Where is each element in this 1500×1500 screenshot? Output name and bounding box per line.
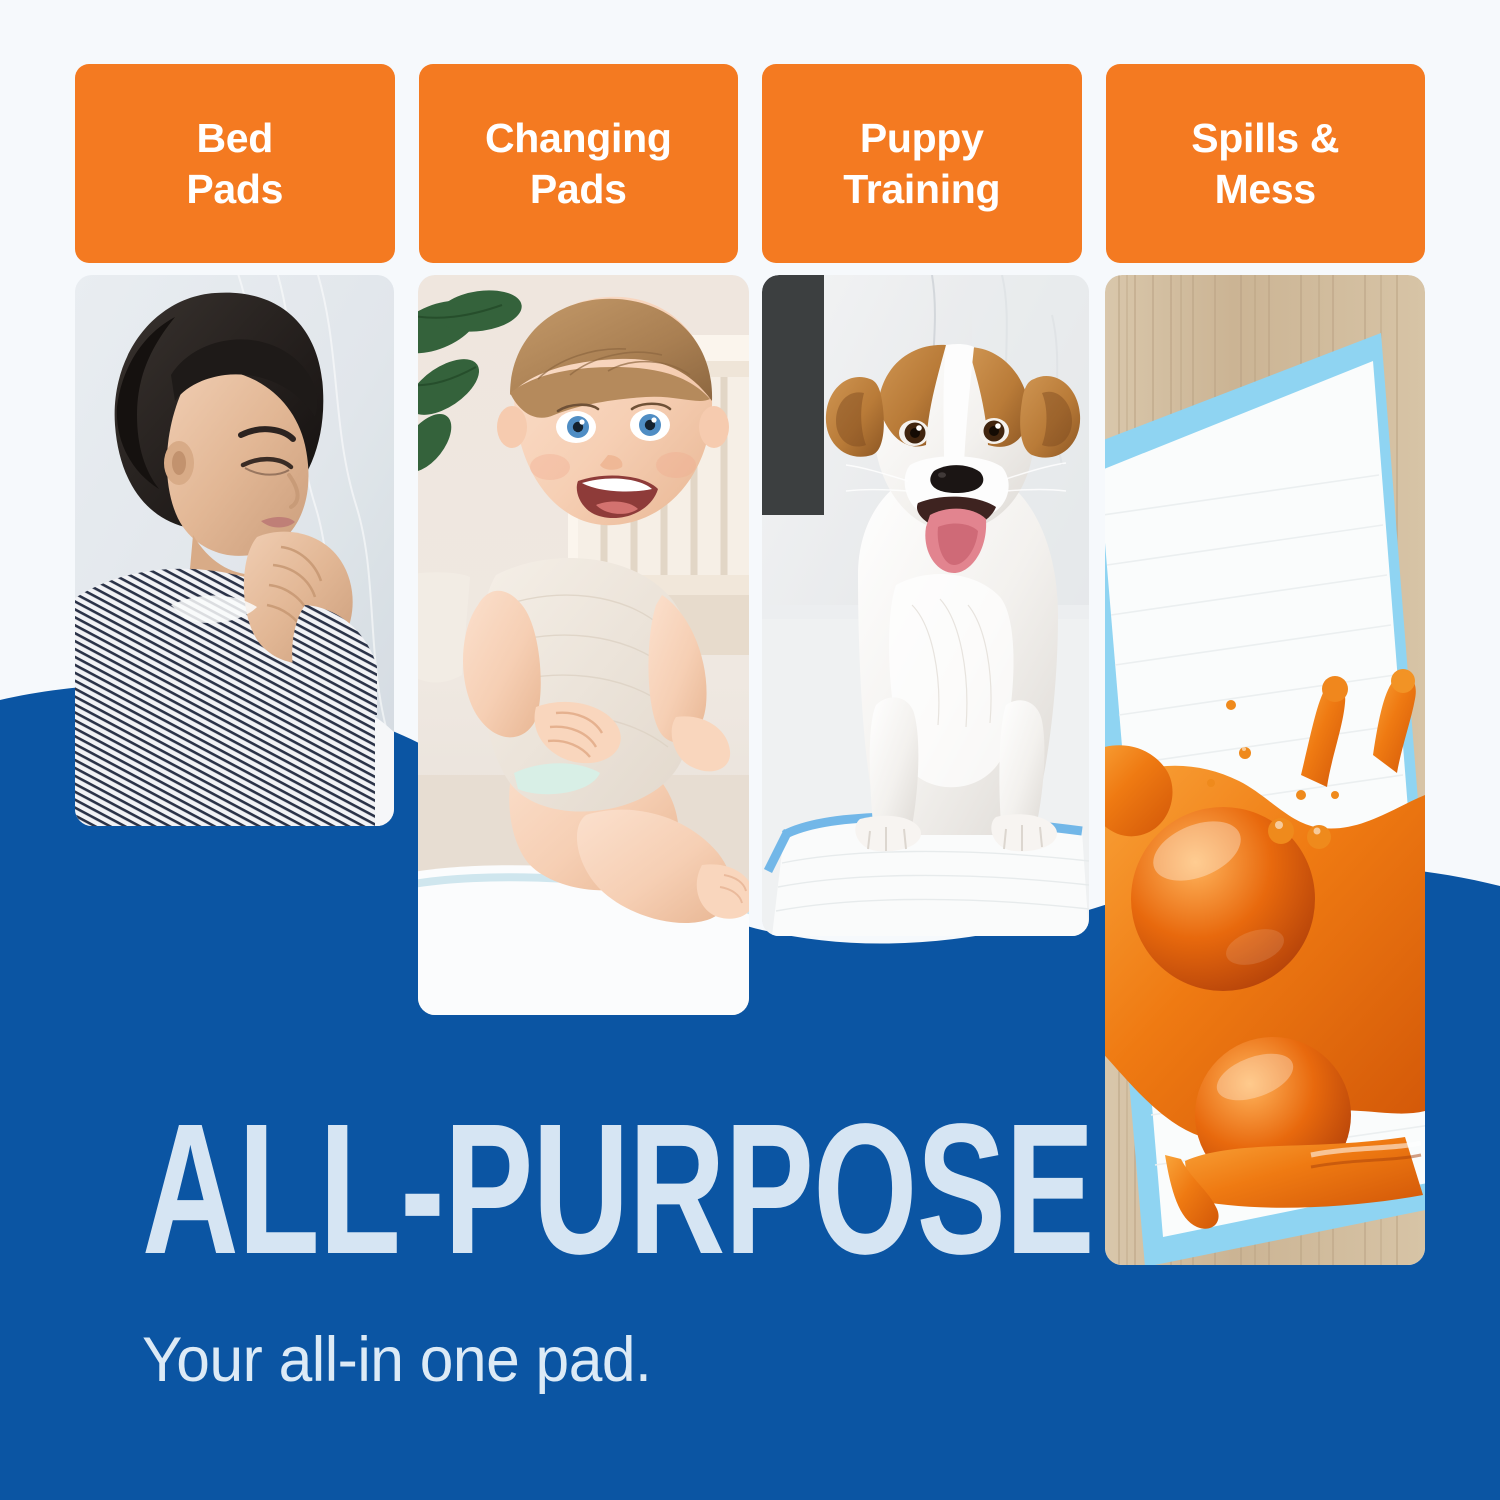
category-label-puppy-training: Puppy Training bbox=[837, 113, 1006, 213]
category-label-changing-pads: Changing Pads bbox=[479, 113, 678, 213]
page-title: ALL-PURPOSE bbox=[142, 1108, 862, 1272]
photo-puppy-training bbox=[762, 275, 1089, 936]
photo-bed-pads bbox=[75, 275, 394, 826]
photo-spills-and-mess bbox=[1105, 275, 1425, 1265]
hero-text-block: ALL-PURPOSE Your all-in one pad. bbox=[142, 1108, 1142, 1396]
category-card-puppy-training[interactable]: Puppy Training bbox=[762, 64, 1082, 263]
page-subtitle: Your all-in one pad. bbox=[142, 1324, 1102, 1396]
category-card-spills-and-mess[interactable]: Spills & Mess bbox=[1106, 64, 1426, 263]
category-card-changing-pads[interactable]: Changing Pads bbox=[419, 64, 739, 263]
category-label-spills-and-mess: Spills & Mess bbox=[1185, 113, 1345, 213]
category-card-bed-pads[interactable]: Bed Pads bbox=[75, 64, 395, 263]
photo-changing-pads bbox=[418, 275, 749, 1015]
category-card-row: Bed Pads Changing Pads Puppy Training Sp… bbox=[75, 64, 1425, 263]
infographic-canvas: Bed Pads Changing Pads Puppy Training Sp… bbox=[0, 0, 1500, 1500]
category-label-bed-pads: Bed Pads bbox=[180, 113, 289, 213]
